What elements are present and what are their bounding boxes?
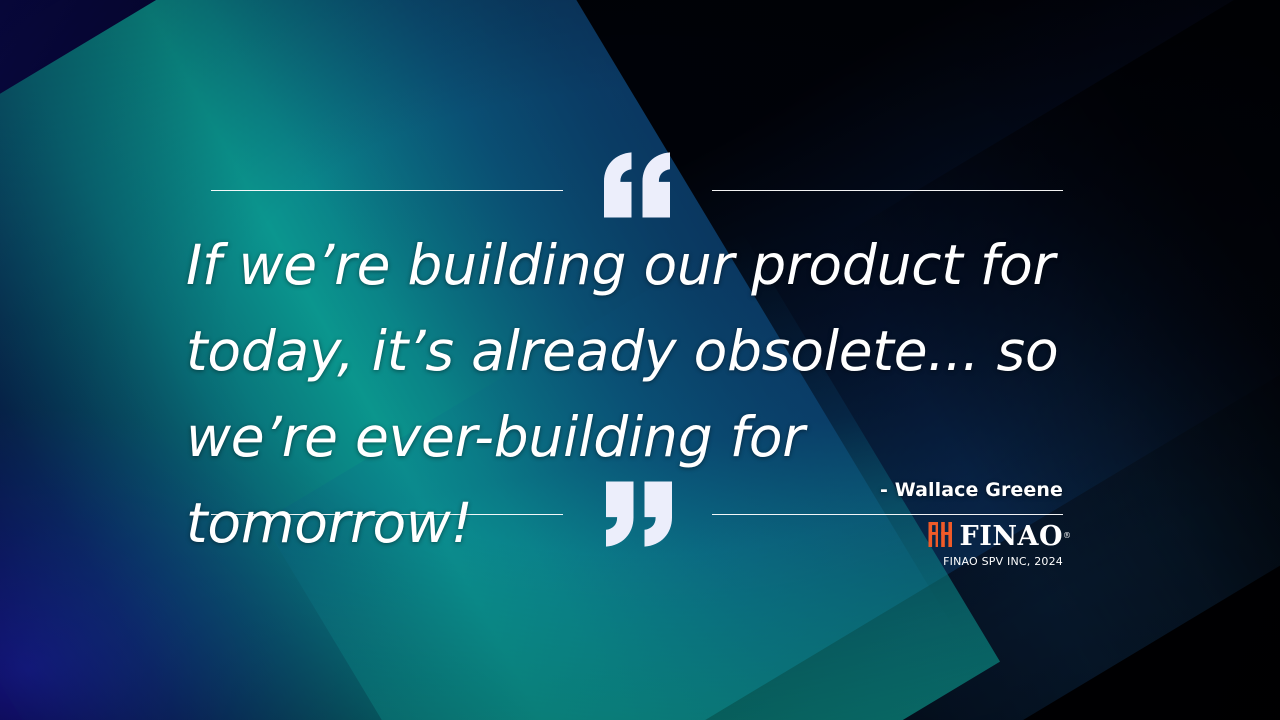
- logo-caption: FINAO SPV INC, 2024: [943, 555, 1063, 568]
- quote-attribution: - Wallace Greene: [0, 479, 1063, 501]
- finao-wordmark: FINAO ®: [960, 523, 1063, 550]
- logo-row: FINAO ®: [928, 521, 1063, 552]
- slide-content: If we’re building our product for today,…: [0, 0, 1280, 720]
- open-quote-icon: [604, 152, 672, 218]
- finao-wordmark-text: FINAO: [960, 521, 1063, 552]
- quote-slide: If we’re building our product for today,…: [0, 0, 1280, 720]
- logo-lockup: FINAO ® FINAO SPV INC, 2024: [0, 521, 1063, 568]
- divider-top-left: [211, 190, 563, 191]
- divider-top-right: [712, 190, 1063, 191]
- quote-text: If we’re building our product for today,…: [186, 222, 1066, 566]
- trademark-symbol: ®: [1063, 522, 1071, 549]
- finao-monogram-icon: [928, 521, 955, 552]
